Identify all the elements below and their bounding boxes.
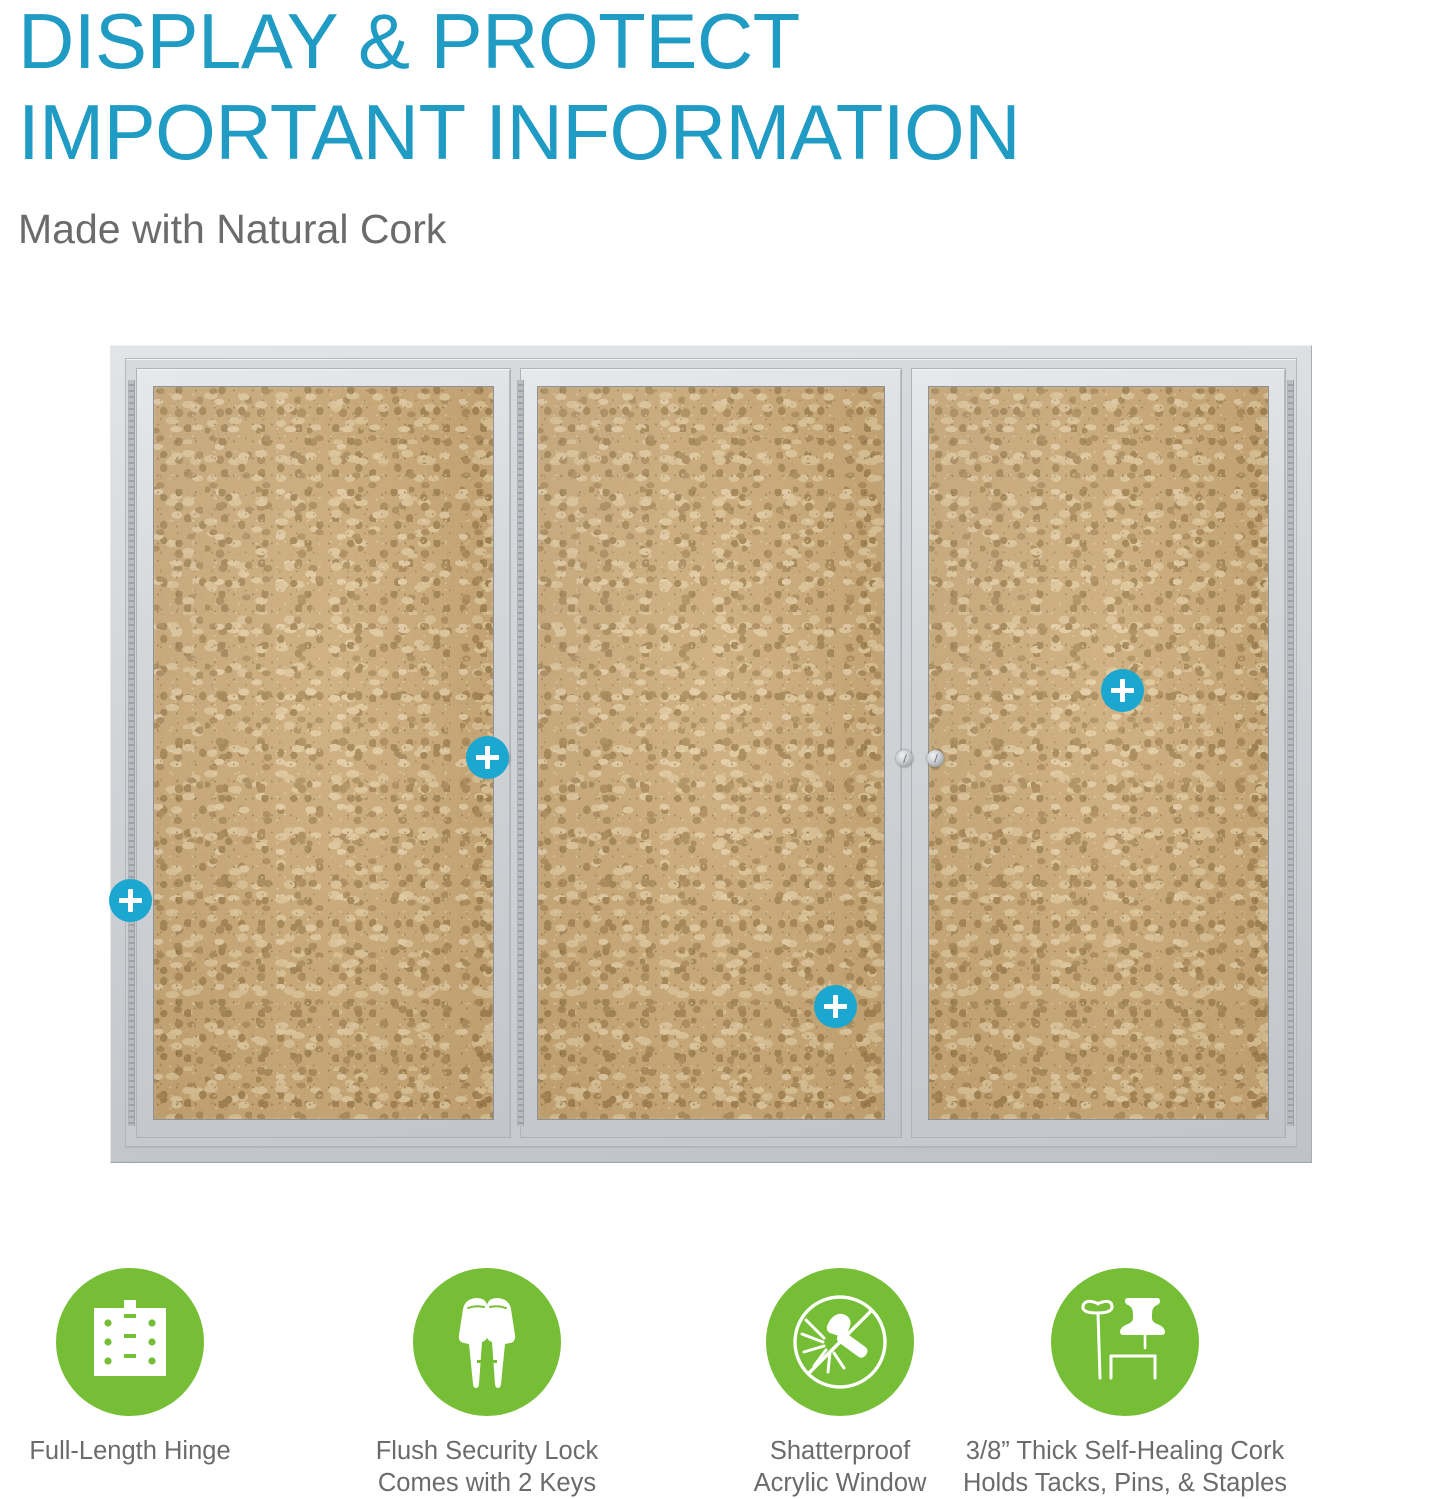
cork-shading-left: [154, 387, 493, 1119]
acrylic-window-right: [928, 386, 1269, 1120]
plus-icon: [485, 746, 490, 769]
security-lock-middle-door[interactable]: [896, 750, 913, 767]
headline-line-2: IMPORTANT INFORMATION: [18, 79, 1418, 170]
cabinet-inner-frame: [125, 358, 1297, 1148]
cork-shading-right: [929, 387, 1268, 1119]
feature-shatterproof-window: Shatterproof Acrylic Window: [766, 1268, 914, 1499]
feature-caption: Full-Length Hinge: [0, 1436, 290, 1468]
callout-marker-cork[interactable]: [1101, 669, 1144, 712]
feature-caption-line-1: Flush Security Lock: [327, 1436, 647, 1468]
keys-icon: [413, 1268, 561, 1416]
plus-icon: [1120, 679, 1125, 702]
subheadline: Made with Natural Cork: [18, 170, 1418, 253]
feature-caption: Flush Security Lock Comes with 2 Keys: [327, 1436, 647, 1499]
feature-caption: 3/8” Thick Self-Healing Cork Holds Tacks…: [915, 1436, 1335, 1499]
no-hammer-icon: [766, 1268, 914, 1416]
bulletin-board-cabinet: [110, 345, 1312, 1163]
feature-caption-line-1: 3/8” Thick Self-Healing Cork: [915, 1436, 1335, 1468]
board-door-right[interactable]: [911, 368, 1286, 1138]
feature-flush-security-lock: Flush Security Lock Comes with 2 Keys: [413, 1268, 561, 1499]
plus-icon: [833, 995, 838, 1018]
feature-icon-circle: [413, 1268, 561, 1416]
plus-icon: [128, 889, 133, 912]
feature-full-length-hinge: Full-Length Hinge: [56, 1268, 204, 1468]
infographic-root: DISPLAY & PROTECT IMPORTANT INFORMATION …: [0, 0, 1445, 1472]
header-block: DISPLAY & PROTECT IMPORTANT INFORMATION …: [18, 0, 1418, 253]
callout-marker-lock[interactable]: [466, 736, 509, 779]
callout-marker-hinge[interactable]: [109, 879, 152, 922]
feature-self-healing-cork: 3/8” Thick Self-Healing Cork Holds Tacks…: [1051, 1268, 1199, 1499]
security-lock-right-door[interactable]: [927, 750, 944, 767]
pins-tacks-icon: [1051, 1268, 1199, 1416]
board-door-left[interactable]: [136, 368, 511, 1138]
full-length-hinge-right: [1287, 380, 1294, 1126]
feature-icon-circle: [766, 1268, 914, 1416]
feature-icon-circle: [56, 1268, 204, 1416]
full-length-hinge-left: [128, 380, 135, 1126]
acrylic-window-left: [153, 386, 494, 1120]
feature-caption-line-1: Full-Length Hinge: [0, 1436, 290, 1468]
callout-marker-window[interactable]: [814, 985, 857, 1028]
hinge-icon: [56, 1268, 204, 1416]
full-length-hinge-middle: [517, 380, 524, 1126]
feature-caption-line-2: Holds Tacks, Pins, & Staples: [915, 1468, 1335, 1499]
feature-caption-line-2: Comes with 2 Keys: [327, 1468, 647, 1499]
headline-line-1: DISPLAY & PROTECT: [18, 0, 1418, 79]
feature-icon-circle: [1051, 1268, 1199, 1416]
